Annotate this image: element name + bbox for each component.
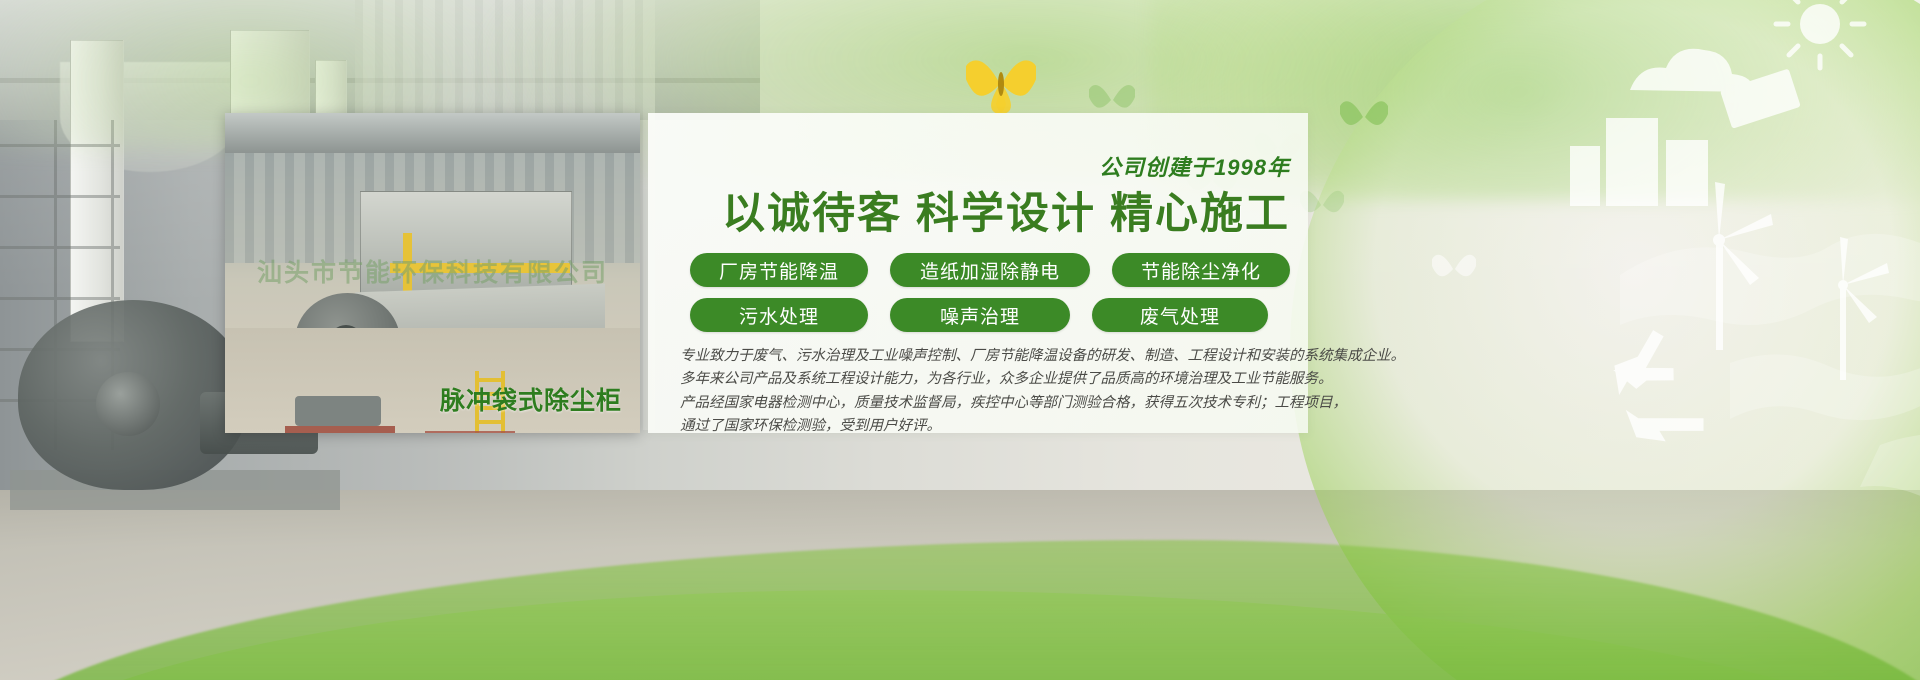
photo-motor	[295, 396, 381, 426]
page-title: 以诚待客 科学设计 精心施工	[672, 190, 1290, 239]
photo-red-base-1	[285, 426, 395, 433]
headline-block: 公司创建于1998年 以诚待客 科学设计 精心施工	[672, 150, 1312, 239]
description-line-3: 产品经国家电器检测中心，质量技术监督局，疾控中心等部门测验合格，获得五次技术专利…	[680, 392, 1310, 415]
background-blower-hub	[96, 372, 160, 436]
photo-red-base-2	[425, 431, 515, 433]
description-paragraph: 专业致力于废气、污水治理及工业噪声控制、厂房节能降温设备的研发、制造、工程设计和…	[680, 345, 1310, 439]
photo-caption: 脉冲袋式除尘柜	[440, 381, 622, 417]
product-photo-card: 汕头市节能环保科技有限公司 脉冲袋式除尘柜	[225, 113, 640, 433]
service-pill-group: 厂房节能降温 造纸加湿除静电 节能除尘净化 污水处理 噪声治理 废气处理	[690, 253, 1300, 343]
service-pill-dust-purify[interactable]: 节能除尘净化	[1112, 253, 1290, 287]
established-text: 公司创建于1998年	[672, 150, 1290, 182]
photo-roof	[225, 113, 640, 153]
service-pill-noise-control[interactable]: 噪声治理	[890, 298, 1070, 332]
butterfly-yellow-icon	[966, 52, 1036, 114]
service-pill-sewage-treatment[interactable]: 污水处理	[690, 298, 868, 332]
butterfly-green-icon-5	[1340, 96, 1388, 138]
hero-banner: 汕头市节能环保科技有限公司 脉冲袋式除尘柜 公司创建于1998年 以诚待客 科学…	[0, 0, 1920, 680]
service-pill-row-2: 污水处理 噪声治理 废气处理	[690, 298, 1300, 332]
eco-city-illustration	[1510, 0, 1920, 500]
description-line-2: 多年来公司产品及系统工程设计能力，为各行业，众多企业提供了品质高的环境治理及工业…	[680, 368, 1310, 391]
butterfly-green-icon-6	[1432, 250, 1476, 288]
photo-watermark: 汕头市节能环保科技有限公司	[257, 253, 608, 289]
description-line-1: 专业致力于废气、污水治理及工业噪声控制、厂房节能降温设备的研发、制造、工程设计和…	[680, 345, 1310, 368]
service-pill-factory-cooling[interactable]: 厂房节能降温	[690, 253, 868, 287]
description-line-4: 通过了国家环保检测验，受到用户好评。	[680, 415, 1310, 438]
service-pill-row-1: 厂房节能降温 造纸加湿除静电 节能除尘净化	[690, 253, 1300, 287]
service-pill-paper-humidify[interactable]: 造纸加湿除静电	[890, 253, 1090, 287]
service-pill-waste-gas[interactable]: 废气处理	[1092, 298, 1268, 332]
